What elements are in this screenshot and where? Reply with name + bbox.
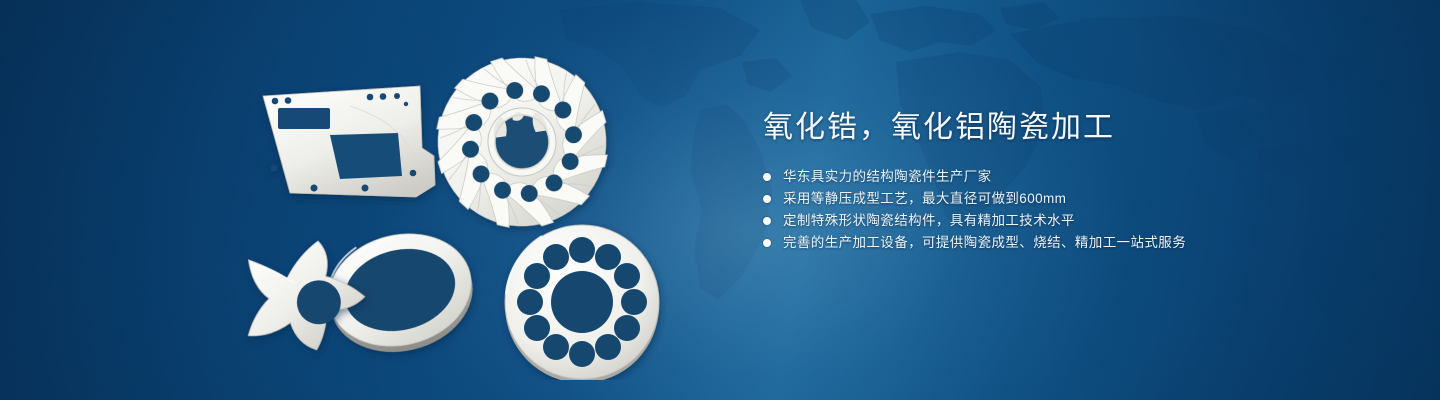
bullet-dot-icon xyxy=(763,239,771,247)
ceramic-mounting-plate xyxy=(263,86,435,197)
ceramic-hole-disc xyxy=(505,225,659,380)
bullet-dot-icon xyxy=(763,173,771,181)
list-item: 华东具实力的结构陶瓷件生产厂家 xyxy=(763,170,1363,184)
list-item: 完善的生产加工设备，可提供陶瓷成型、烧结、精加工一站式服务 xyxy=(763,236,1363,250)
hero-banner: 氧化锆，氧化铝陶瓷加工 华东具实力的结构陶瓷件生产厂家 采用等静压成型工艺，最大… xyxy=(0,0,1440,400)
bullet-dot-icon xyxy=(763,217,771,225)
list-item: 采用等静压成型工艺，最大直径可做到600mm xyxy=(763,192,1363,206)
feature-text: 定制特殊形状陶瓷结构件，具有精加工技术水平 xyxy=(783,214,1075,228)
ceramic-impeller-disc xyxy=(423,43,621,241)
feature-list: 华东具实力的结构陶瓷件生产厂家 采用等静压成型工艺，最大直径可做到600mm 定… xyxy=(763,170,1363,250)
feature-text: 华东具实力的结构陶瓷件生产厂家 xyxy=(783,170,992,184)
feature-text: 完善的生产加工设备，可提供陶瓷成型、烧结、精加工一站式服务 xyxy=(783,236,1186,250)
banner-copy: 氧化锆，氧化铝陶瓷加工 华东具实力的结构陶瓷件生产厂家 采用等静压成型工艺，最大… xyxy=(763,108,1363,250)
ceramic-products-image xyxy=(230,30,720,380)
list-item: 定制特殊形状陶瓷结构件，具有精加工技术水平 xyxy=(763,214,1363,228)
page-title: 氧化锆，氧化铝陶瓷加工 xyxy=(763,108,1363,148)
feature-text: 采用等静压成型工艺，最大直径可做到600mm xyxy=(783,192,1066,206)
bullet-dot-icon xyxy=(763,195,771,203)
